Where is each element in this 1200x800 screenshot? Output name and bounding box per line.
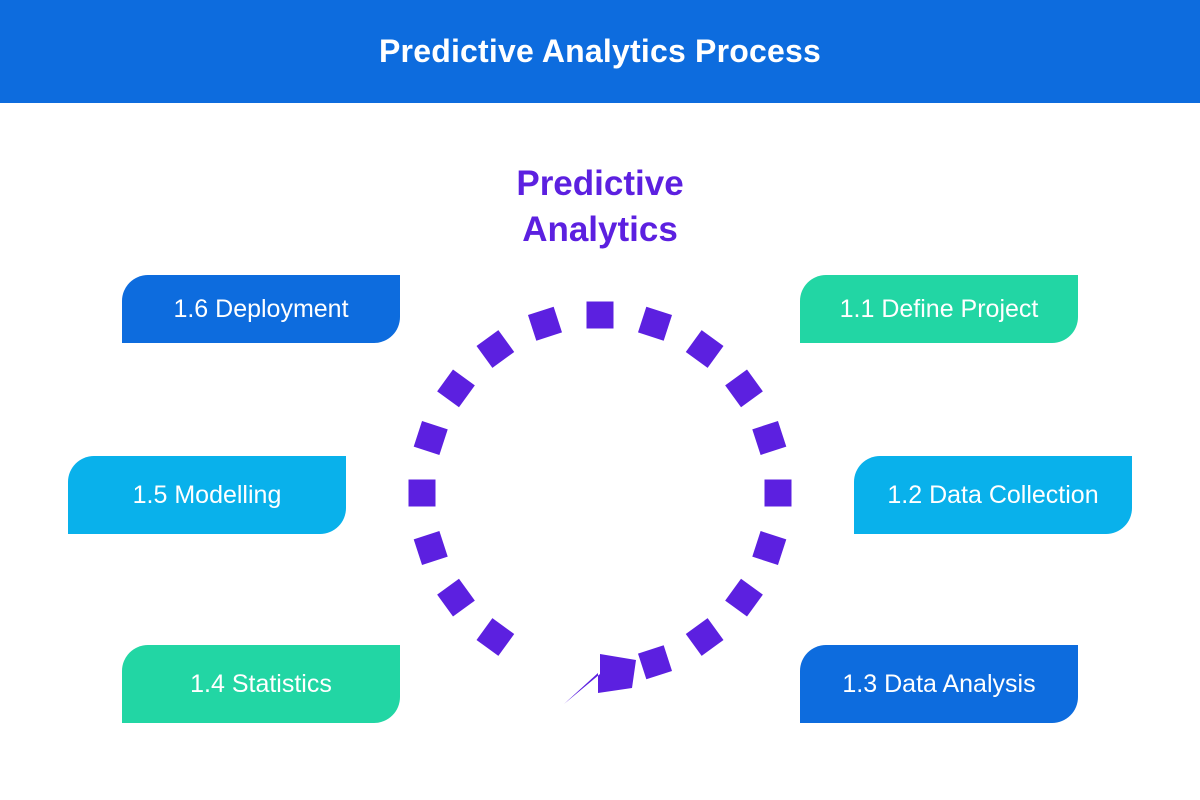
process-step-1-3-label: 1.3 Data Analysis <box>828 670 1049 699</box>
process-step-1-1-label: 1.1 Define Project <box>826 295 1053 324</box>
process-step-1-5-label: 1.5 Modelling <box>119 481 296 510</box>
process-step-1-1[interactable]: 1.1 Define Project <box>800 275 1078 343</box>
diagram-canvas: Predictive Analytics 1.6 Deployment 1.1 … <box>0 103 1200 800</box>
process-step-1-6-label: 1.6 Deployment <box>159 295 362 324</box>
page-title: Predictive Analytics Process <box>379 33 821 70</box>
process-step-1-2-label: 1.2 Data Collection <box>873 481 1112 510</box>
cycle-center-heading-line2: Analytics <box>400 207 800 253</box>
process-step-1-5[interactable]: 1.5 Modelling <box>68 456 346 534</box>
header-bar: Predictive Analytics Process <box>0 0 1200 103</box>
cycle-ring-dashes <box>409 302 792 680</box>
process-step-1-4[interactable]: 1.4 Statistics <box>122 645 400 723</box>
cycle-center-heading-line1: Predictive <box>400 161 800 207</box>
process-step-1-6[interactable]: 1.6 Deployment <box>122 275 400 343</box>
process-step-1-3[interactable]: 1.3 Data Analysis <box>800 645 1078 723</box>
cycle-arrow-icon <box>564 654 636 704</box>
process-step-1-2[interactable]: 1.2 Data Collection <box>854 456 1132 534</box>
process-step-1-4-label: 1.4 Statistics <box>176 670 346 699</box>
cycle-ring-icon <box>380 273 820 713</box>
cycle-center-heading: Predictive Analytics <box>400 161 800 252</box>
